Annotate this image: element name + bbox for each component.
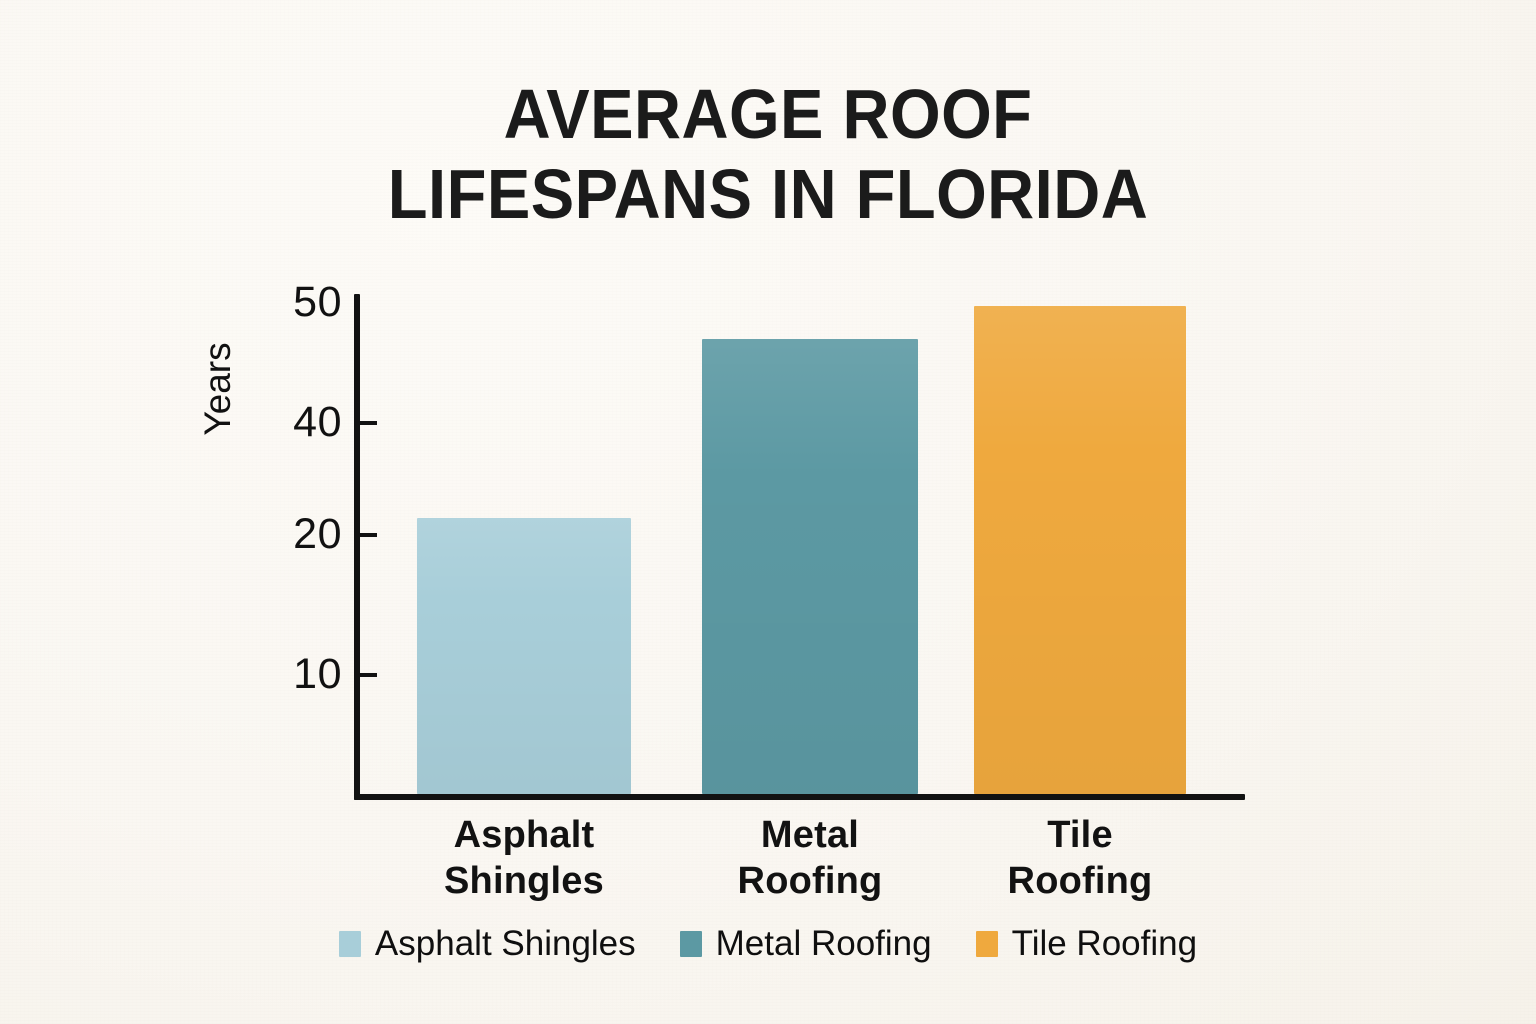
legend-item-metal-roofing[interactable]: Metal Roofing [680,924,932,964]
x-category-label-asphalt-shingles: Asphalt Shingles [404,812,644,904]
x-category-label-metal-roofing: Metal Roofing [690,812,930,904]
legend-swatch-icon-metal-roofing [680,931,702,957]
legend-swatch-icon-asphalt-shingles [339,931,361,957]
y-tick-label-20: 20 [222,513,342,556]
y-tick-label-50: 50 [222,281,342,324]
bar-asphalt-shingles[interactable] [417,518,631,794]
x-category-label-tile-roofing: Tile Roofing [960,812,1200,904]
y-tick-label-10: 10 [222,653,342,696]
chart-canvas: AVERAGE ROOF LIFESPANS IN FLORIDA Years … [0,0,1536,1024]
legend-label-asphalt-shingles: Asphalt Shingles [375,924,636,964]
legend-label-metal-roofing: Metal Roofing [716,924,932,964]
legend-swatch-icon-tile-roofing [976,931,998,957]
y-tick-label-40: 40 [222,401,342,444]
x-axis-line [354,794,1245,800]
plot-area: Years 50 40 20 10 Asphalt Shingles Metal… [0,0,1536,1024]
chart-legend: Asphalt Shingles Metal Roofing Tile Roof… [0,924,1536,964]
y-axis-title: Years [199,309,236,469]
bar-tile-roofing[interactable] [974,306,1186,794]
legend-item-asphalt-shingles[interactable]: Asphalt Shingles [339,924,636,964]
bar-metal-roofing[interactable] [702,339,918,794]
legend-item-tile-roofing[interactable]: Tile Roofing [976,924,1197,964]
y-tick-mark-40 [360,421,377,425]
y-axis-line [354,294,360,800]
y-tick-mark-10 [360,673,377,677]
legend-label-tile-roofing: Tile Roofing [1012,924,1197,964]
y-tick-mark-20 [360,533,377,537]
